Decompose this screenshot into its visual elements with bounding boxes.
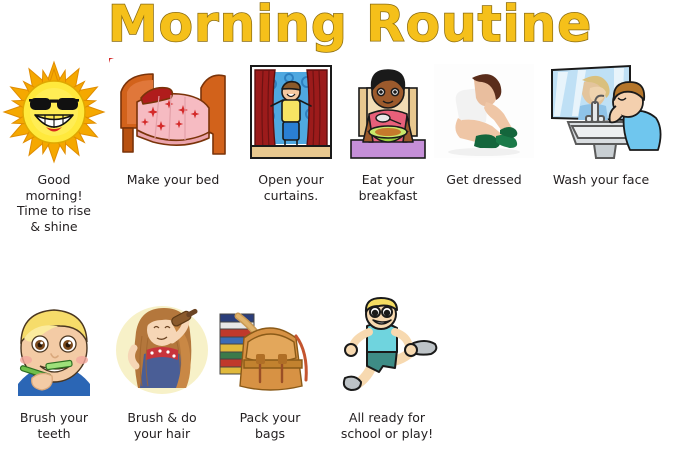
boy-washing-face-at-sink-icon (538, 58, 664, 166)
routine-item-open-your-curtains[interactable]: Open your curtains. (238, 58, 344, 203)
routine-item-eat-your-breakfast[interactable]: Eat your breakfast (344, 58, 432, 203)
boy-brushing-teeth-icon (2, 296, 106, 404)
routine-item-get-dressed[interactable]: Get dressed (432, 58, 536, 188)
routine-row-2: Brush your teeth (0, 296, 700, 441)
routine-item-brush-and-do-your-hair[interactable]: Brush & do your hair (108, 296, 216, 441)
child-putting-on-socks-icon (434, 58, 534, 166)
caption-all-ready: All ready for school or play! (341, 410, 433, 441)
caption-brush-your-teeth: Brush your teeth (20, 410, 88, 441)
routine-item-wash-your-face[interactable]: Wash your face (536, 58, 666, 188)
girl-brushing-hair-icon (110, 296, 214, 404)
caption-brush-and-do-your-hair: Brush & do your hair (127, 410, 196, 441)
caption-make-your-bed: Make your bed (127, 172, 220, 188)
sun-with-sunglasses-icon (2, 58, 106, 166)
running-boy-icon (327, 296, 447, 404)
caption-get-dressed: Get dressed (446, 172, 521, 188)
page-title: Morning Routine (108, 0, 592, 49)
morning-routine-poster: Morning Routine (0, 0, 700, 467)
routine-row-1: Good morning! Time to rise & shine (0, 58, 700, 234)
routine-item-good-morning[interactable]: Good morning! Time to rise & shine (0, 58, 108, 234)
boy-opening-curtains-icon (241, 58, 341, 166)
routine-item-brush-your-teeth[interactable]: Brush your teeth (0, 296, 108, 441)
bed-icon (109, 58, 237, 166)
child-eating-cereal-icon (347, 58, 429, 166)
routine-item-all-ready[interactable]: All ready for school or play! (324, 296, 450, 441)
caption-open-your-curtains: Open your curtains. (258, 172, 323, 203)
caption-good-morning: Good morning! Time to rise & shine (17, 172, 91, 234)
poster-title-bar: Morning Routine (0, 0, 700, 52)
routine-item-pack-your-bags[interactable]: Pack your bags (216, 296, 324, 441)
caption-wash-your-face: Wash your face (553, 172, 649, 188)
routine-item-make-your-bed[interactable]: Make your bed (108, 58, 238, 188)
caption-pack-your-bags: Pack your bags (240, 410, 301, 441)
backpack-with-books-icon (218, 296, 322, 404)
caption-eat-your-breakfast: Eat your breakfast (359, 172, 418, 203)
